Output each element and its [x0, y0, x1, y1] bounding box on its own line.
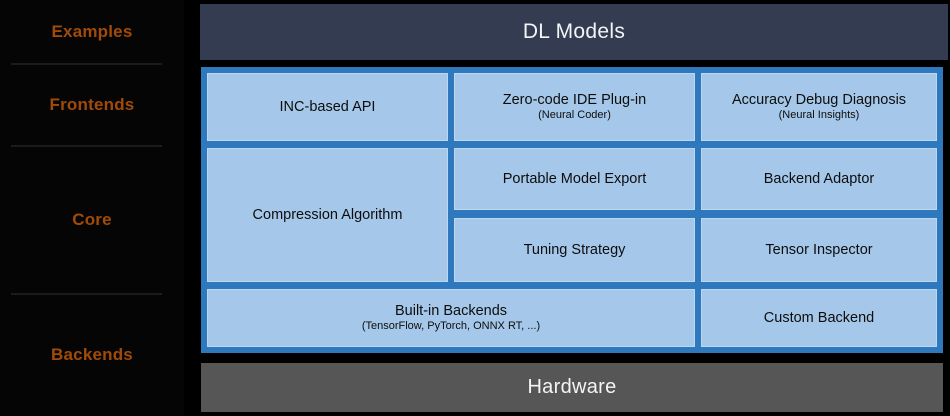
component-subtitle: (Neural Coder): [538, 109, 611, 122]
component-title: Custom Backend: [764, 310, 874, 327]
component-box[interactable]: INC-based API: [207, 73, 448, 141]
component-title: Tensor Inspector: [765, 242, 872, 259]
dl-models-label: DL Models: [523, 20, 625, 44]
component-title: Portable Model Export: [503, 171, 646, 188]
sidebar-gutter: [184, 0, 200, 416]
component-subtitle: (TensorFlow, PyTorch, ONNX RT, ...): [362, 320, 540, 333]
component-box[interactable]: Accuracy Debug Diagnosis(Neural Insights…: [701, 73, 937, 141]
sidebar-divider-1: [11, 145, 162, 147]
architecture-panel: DL Models INC-based APIZero-code IDE Plu…: [200, 0, 950, 416]
component-box[interactable]: Backend Adaptor: [701, 148, 937, 210]
sidebar-section-label: Examples: [52, 22, 133, 42]
component-box[interactable]: Compression Algorithm: [207, 148, 448, 282]
framework-container: INC-based APIZero-code IDE Plug-in(Neura…: [201, 67, 943, 353]
component-title: Compression Algorithm: [253, 207, 403, 224]
dl-models-bar: DL Models: [200, 4, 948, 60]
component-box[interactable]: Custom Backend: [701, 289, 937, 347]
diagram-canvas: ExamplesFrontendsCoreBackends DL Models …: [0, 0, 950, 416]
component-box[interactable]: Tuning Strategy: [454, 218, 695, 282]
component-title: INC-based API: [280, 99, 376, 116]
component-title: Backend Adaptor: [764, 171, 874, 188]
hardware-label: Hardware: [527, 376, 616, 399]
component-title: Zero-code IDE Plug-in: [503, 92, 646, 109]
sidebar-section-core[interactable]: Core: [0, 146, 184, 293]
sidebar-section-label: Core: [72, 210, 112, 230]
sidebar-divider-2: [11, 293, 162, 295]
layer-legend-sidebar: ExamplesFrontendsCoreBackends: [0, 0, 184, 416]
sidebar-divider-0: [11, 63, 162, 65]
component-box[interactable]: Built-in Backends(TensorFlow, PyTorch, O…: [207, 289, 695, 347]
sidebar-section-backends[interactable]: Backends: [0, 294, 184, 416]
sidebar-section-examples[interactable]: Examples: [0, 0, 184, 63]
sidebar-section-frontends[interactable]: Frontends: [0, 64, 184, 145]
hardware-bar: Hardware: [201, 363, 943, 412]
component-box[interactable]: Zero-code IDE Plug-in(Neural Coder): [454, 73, 695, 141]
component-box[interactable]: Tensor Inspector: [701, 218, 937, 282]
component-title: Tuning Strategy: [524, 242, 626, 259]
sidebar-section-label: Frontends: [50, 95, 135, 115]
component-box[interactable]: Portable Model Export: [454, 148, 695, 210]
component-subtitle: (Neural Insights): [779, 109, 860, 122]
sidebar-section-label: Backends: [51, 345, 133, 365]
component-title: Built-in Backends: [395, 303, 507, 320]
component-title: Accuracy Debug Diagnosis: [732, 92, 906, 109]
